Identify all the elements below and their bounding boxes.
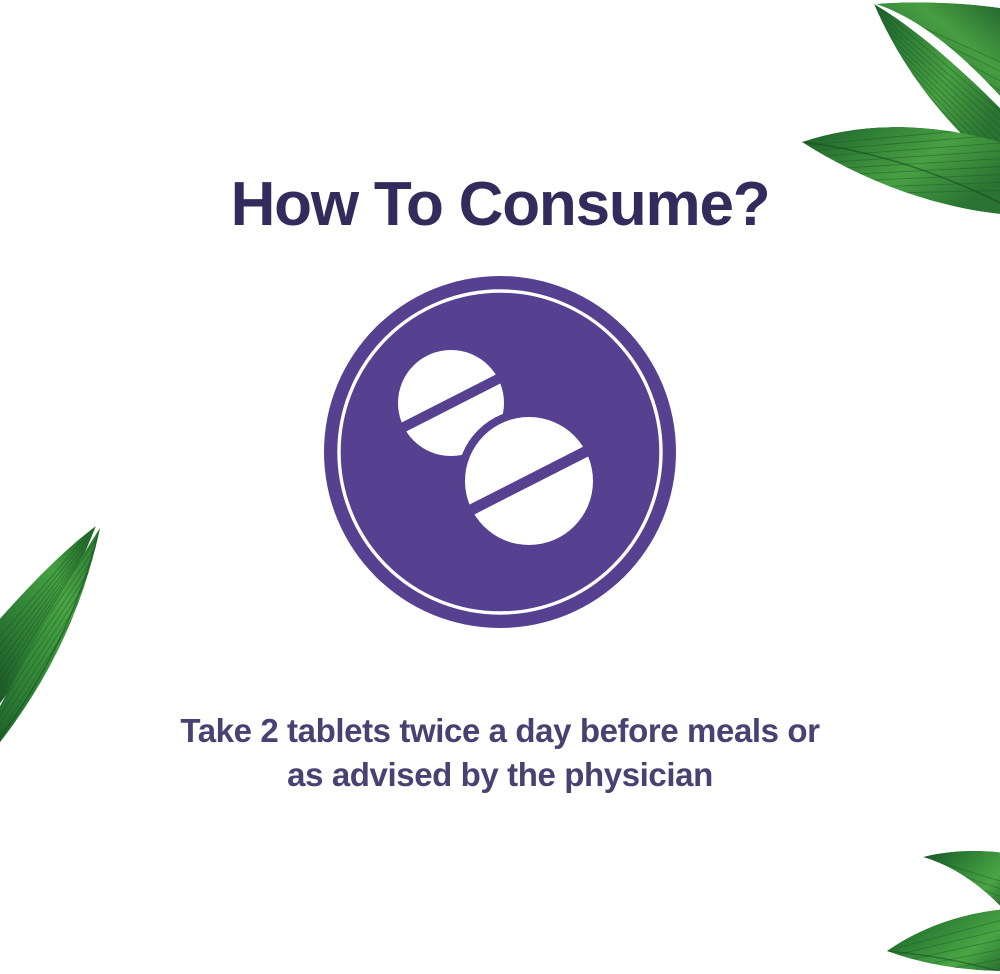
page-title: How To Consume? [0, 170, 1000, 240]
leaf-decoration-bottom-right-icon [885, 839, 1000, 974]
instruction-line-2: as advised by the physician [110, 753, 890, 797]
two-tablets-icon [323, 275, 677, 629]
instruction-line-1: Take 2 tablets twice a day before meals … [110, 709, 890, 753]
instruction-text: Take 2 tablets twice a day before meals … [110, 709, 890, 797]
how-to-consume-card: How To Consume? [0, 0, 1000, 974]
